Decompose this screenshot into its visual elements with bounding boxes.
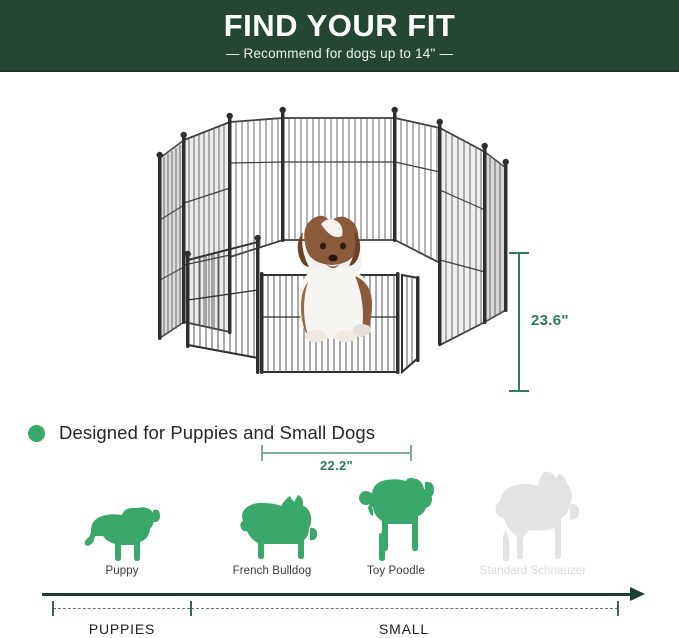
dog-label-puppy: Puppy [47,565,197,577]
banner-title: FIND YOUR FIT [0,9,679,43]
product-illustration-area: 23.6" 22.2" [0,72,679,412]
small-range-dashed-line [191,608,618,609]
dog-label-toy-poodle: Toy Poodle [321,565,471,577]
range-tick-divider [190,601,192,616]
toy-poodle-silhouette-icon [353,476,439,562]
size-scale-axis-line [42,593,637,596]
height-dimension-line [518,252,520,392]
dog-cell-standard-schnauzer: Standard Schnauzer [458,470,608,585]
pen-panel-rear-left [160,140,184,338]
puppies-range-dashed-line [53,608,190,609]
pen-panel-rear-right [485,152,506,322]
category-label-puppies: PUPPIES [47,621,197,637]
dog-label-standard-schnauzer: Standard Schnauzer [458,565,608,577]
pen-panel-back-right [395,118,440,263]
height-dimension-cap-bottom [509,390,529,392]
french-bulldog-silhouette-icon [226,492,318,562]
puppy-silhouette-icon [83,500,161,562]
pen-panel-front-left [188,242,258,358]
infographic-page: FIND YOUR FIT — Recommend for dogs up to… [0,0,679,638]
dog-size-row: Puppy French Bulldog [0,470,679,585]
standard-schnauzer-silhouette-icon [484,470,582,562]
bullet-dot-icon [28,425,45,442]
puppy-silhouette-art [47,470,197,562]
feature-bullet-row: Designed for Puppies and Small Dogs [28,422,375,444]
range-tick-end [617,601,619,616]
pen-panel-front-right [402,275,418,372]
range-tick-start [52,601,54,616]
standard-schnauzer-silhouette-art [458,470,608,562]
width-dimension-line [261,452,412,454]
dog-cell-toy-poodle: Toy Poodle [321,470,471,585]
header-banner: FIND YOUR FIT — Recommend for dogs up to… [0,0,679,72]
toy-poodle-silhouette-art [321,470,471,562]
feature-bullet-text: Designed for Puppies and Small Dogs [59,422,375,444]
height-dimension-label: 23.6" [531,312,569,329]
size-scale-arrow-icon [630,587,645,601]
category-label-small: SMALL [329,621,479,637]
dog-playpen-illustration [140,100,520,375]
dog-cell-puppy: Puppy [47,470,197,585]
height-dimension-cap-top [509,252,529,254]
pen-panel-right [440,128,485,345]
banner-subtitle: — Recommend for dogs up to 14" — [0,45,679,62]
